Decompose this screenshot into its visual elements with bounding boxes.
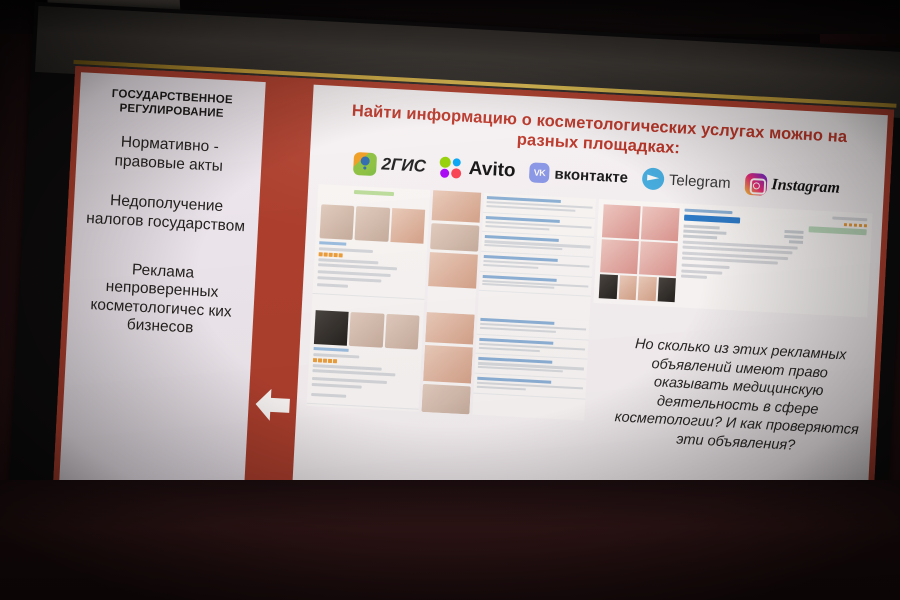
collage-results-1 bbox=[478, 193, 596, 321]
collage-listing-avito-2 bbox=[307, 306, 424, 412]
question-text: Но сколько из этих рекламных объявлений … bbox=[611, 334, 866, 458]
platform-telegram: Telegram bbox=[641, 168, 731, 195]
telegram-logo-icon bbox=[641, 168, 664, 191]
platform-2gis: 2ГИС bbox=[353, 152, 427, 179]
screenshot-collage-bottom bbox=[307, 306, 612, 422]
photo-scene: ГОСУДАРСТВЕННОЕ РЕГУЛИРОВАНИЕ Нормативно… bbox=[0, 0, 900, 600]
left-panel-item-3: Реклама непроверенных косметологичес ких… bbox=[75, 258, 248, 341]
collage-listing-avito-1 bbox=[312, 184, 430, 312]
left-panel-title: ГОСУДАРСТВЕННОЕ РЕГУЛИРОВАНИЕ bbox=[87, 87, 257, 123]
platform-instagram-label: Instagram bbox=[771, 176, 840, 198]
platform-vk: VK вконтакте bbox=[529, 163, 629, 188]
collage-thumb-strip-1 bbox=[427, 190, 481, 314]
left-panel-item-2: Недополучение налогов государством bbox=[81, 191, 252, 237]
platform-avito-label: Avito bbox=[468, 158, 516, 182]
room-wall-bottom bbox=[0, 480, 900, 600]
platform-instagram: Instagram bbox=[744, 173, 841, 200]
platform-avito: Avito bbox=[439, 157, 516, 183]
instagram-logo-icon bbox=[744, 173, 767, 196]
platform-telegram-label: Telegram bbox=[668, 171, 731, 191]
platform-vk-label: вконтакте bbox=[554, 165, 628, 186]
collage-thumb-strip-2 bbox=[421, 312, 474, 414]
question-block: Но сколько из этих рекламных объявлений … bbox=[611, 322, 866, 458]
avito-logo-icon bbox=[439, 157, 464, 180]
arrow-left-icon bbox=[253, 384, 293, 426]
collage-listing-2gis bbox=[592, 199, 872, 335]
left-panel: ГОСУДАРСТВЕННОЕ РЕГУЛИРОВАНИЕ Нормативно… bbox=[58, 72, 266, 521]
left-panel-item-1: Нормативно - правовые акты bbox=[84, 132, 255, 178]
vk-logo-icon: VK bbox=[529, 163, 550, 184]
collage-results-2 bbox=[472, 315, 589, 421]
platform-2gis-label: 2ГИС bbox=[381, 155, 426, 177]
2gis-logo-icon bbox=[353, 152, 377, 176]
